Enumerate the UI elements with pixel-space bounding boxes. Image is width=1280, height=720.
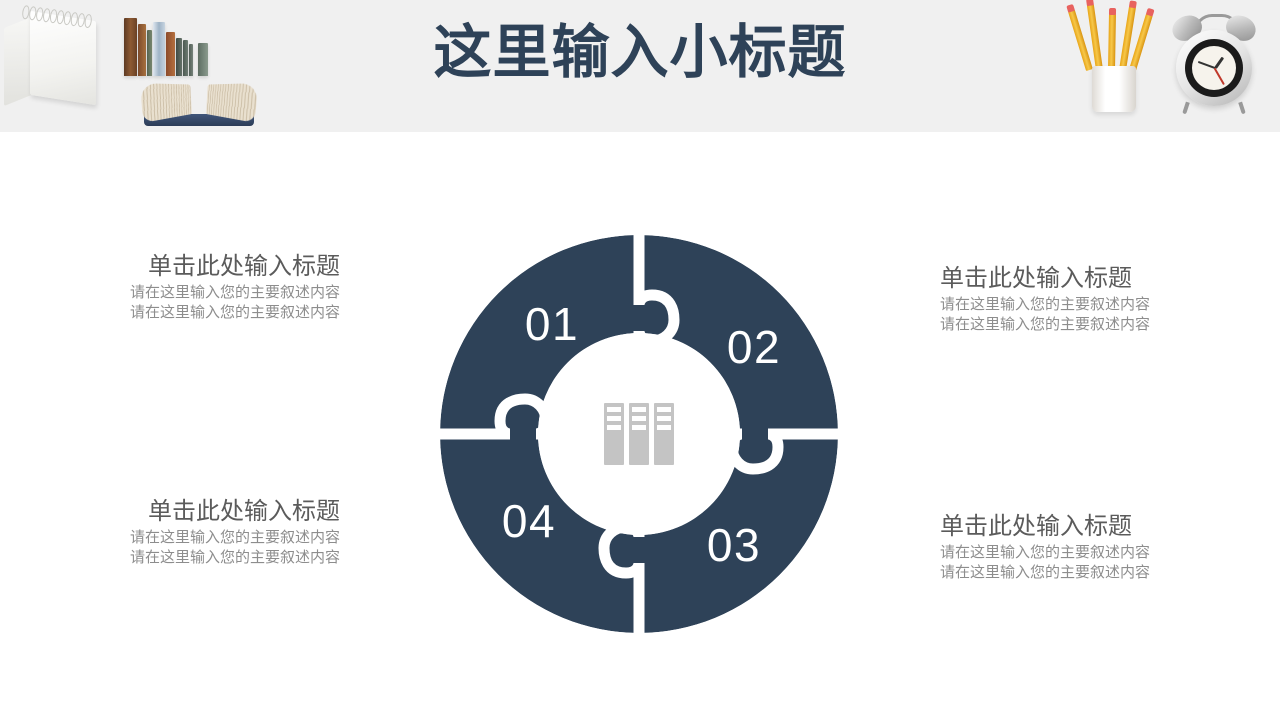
circular-puzzle-diagram: 01 02 03 04 [438, 233, 840, 635]
callout-04-title: 单击此处输入标题 [40, 497, 340, 528]
slide-canvas: 这里输入小标题 [0, 0, 1280, 720]
callout-03-line2: 请在这里输入您的主要叙述内容 [940, 563, 1240, 583]
callout-01-line2: 请在这里输入您的主要叙述内容 [40, 303, 340, 323]
callout-03-title: 单击此处输入标题 [940, 512, 1240, 543]
callout-04[interactable]: 单击此处输入标题 请在这里输入您的主要叙述内容 请在这里输入您的主要叙述内容 [40, 497, 340, 568]
alarm-clock-icon [1168, 14, 1260, 114]
callout-01-title: 单击此处输入标题 [40, 252, 340, 283]
callout-03-line1: 请在这里输入您的主要叙述内容 [940, 543, 1240, 563]
segment-number-01: 01 [525, 298, 579, 350]
clock-foot-left [1182, 102, 1190, 115]
open-book-icon [140, 78, 258, 126]
callout-02-line2: 请在这里输入您的主要叙述内容 [940, 315, 1240, 335]
callout-04-line1: 请在这里输入您的主要叙述内容 [40, 528, 340, 548]
segment-number-04: 04 [502, 495, 556, 547]
row-of-books-icon [124, 14, 216, 76]
callout-01-line1: 请在这里输入您的主要叙述内容 [40, 283, 340, 303]
pencil-cup-icon [1078, 8, 1150, 112]
clock-foot-right [1238, 102, 1246, 115]
books-shelf-icon [604, 403, 674, 465]
clock-bezel [1185, 39, 1243, 97]
callout-03[interactable]: 单击此处输入标题 请在这里输入您的主要叙述内容 请在这里输入您的主要叙述内容 [940, 512, 1240, 583]
callout-02[interactable]: 单击此处输入标题 请在这里输入您的主要叙述内容 请在这里输入您的主要叙述内容 [940, 264, 1240, 335]
segment-number-02: 02 [727, 321, 781, 373]
clock-body [1176, 30, 1252, 106]
callout-02-title: 单击此处输入标题 [940, 264, 1240, 295]
clock-face [1192, 46, 1236, 90]
spiral-notepad-icon [2, 8, 98, 104]
callout-04-line2: 请在这里输入您的主要叙述内容 [40, 548, 340, 568]
segment-number-03: 03 [707, 519, 761, 571]
callout-01[interactable]: 单击此处输入标题 请在这里输入您的主要叙述内容 请在这里输入您的主要叙述内容 [40, 252, 340, 323]
pencil-cup-body [1092, 66, 1136, 112]
callout-02-line1: 请在这里输入您的主要叙述内容 [940, 295, 1240, 315]
